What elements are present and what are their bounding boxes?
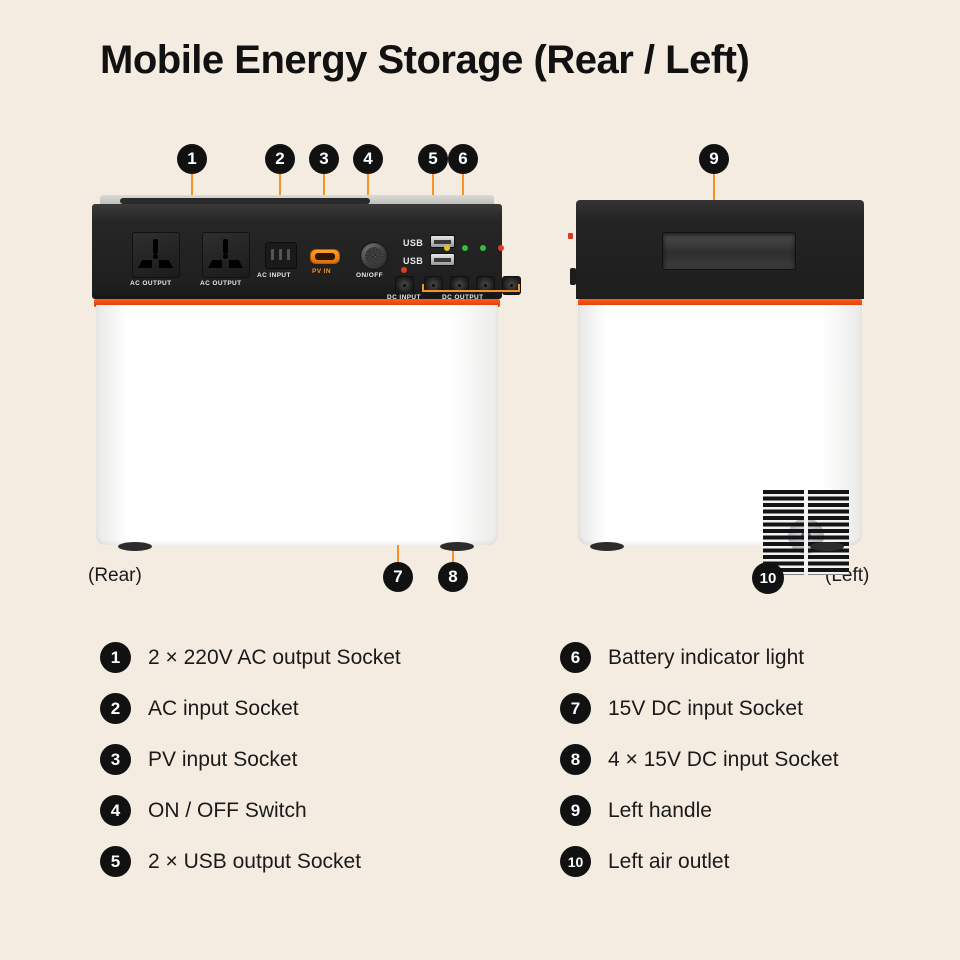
jack-center-pin (510, 284, 513, 287)
legend-badge-2: 2 (100, 693, 131, 724)
legend-badge-1: 1 (100, 642, 131, 673)
left-foot-left (590, 542, 624, 551)
callout-badge-8[interactable]: 8 (438, 562, 468, 592)
legend-item-9[interactable]: 9 Left handle (560, 793, 960, 844)
vent-center-divider (804, 490, 808, 575)
socket-pin-slot (153, 239, 158, 254)
ac-output-socket-right[interactable] (202, 232, 250, 278)
legend-label-3: PV input Socket (148, 744, 297, 775)
legend-label-5: 2 × USB output Socket (148, 846, 361, 877)
legend-label-7: 15V DC input Socket (608, 693, 803, 724)
legend-badge-10: 10 (560, 846, 591, 877)
battery-led-red (498, 245, 504, 251)
ac-input-pin-1 (271, 249, 274, 260)
battery-led-yellow (444, 245, 450, 251)
usb-top-label: USB (403, 238, 423, 248)
socket-ground-pin (223, 254, 228, 259)
legend-badge-6: 6 (560, 642, 591, 673)
legend-item-5[interactable]: 5 2 × USB output Socket (100, 844, 520, 895)
pv-in-label: PV IN (312, 268, 331, 275)
dc-output-socket-2[interactable] (450, 276, 469, 295)
left-edge-slot (570, 268, 576, 285)
rear-foot-left (118, 542, 152, 551)
diagram-stage: Mobile Energy Storage (Rear / Left) 1 2 … (0, 0, 960, 960)
left-handle[interactable] (662, 232, 796, 270)
ac-input-label: AC INPUT (257, 272, 291, 279)
on-off-label: ON/OFF (356, 272, 383, 279)
callout-badge-2[interactable]: 2 (265, 144, 295, 174)
callout-badge-5[interactable]: 5 (418, 144, 448, 174)
page-title: Mobile Energy Storage (Rear / Left) (100, 38, 749, 83)
callout-badge-9[interactable]: 9 (699, 144, 729, 174)
legend-column-left: 1 2 × 220V AC output Socket 2 AC input S… (100, 640, 520, 895)
legend-item-1[interactable]: 1 2 × 220V AC output Socket (100, 640, 520, 691)
battery-led-green-1 (462, 245, 468, 251)
legend-label-9: Left handle (608, 795, 712, 826)
legend-item-3[interactable]: 3 PV input Socket (100, 742, 520, 793)
usb-contact-block (434, 240, 451, 244)
usb-bottom-label: USB (403, 256, 423, 266)
legend-badge-9: 9 (560, 795, 591, 826)
legend-label-10: Left air outlet (608, 846, 729, 877)
socket-ground-pin (153, 254, 158, 259)
rear-body-shell (96, 305, 498, 545)
jack-center-pin (403, 284, 406, 287)
ac-output-socket-left[interactable] (132, 232, 180, 278)
usb-output-socket-bottom[interactable] (430, 253, 455, 266)
pv-connector-core (315, 253, 335, 260)
socket-wing-left (138, 260, 152, 268)
ac-output-left-label: AC OUTPUT (130, 280, 172, 287)
on-off-switch[interactable] (360, 242, 388, 270)
left-edge-led (568, 233, 573, 239)
switch-knurled-face (365, 247, 383, 265)
legend-item-6[interactable]: 6 Battery indicator light (560, 640, 960, 691)
legend-label-2: AC input Socket (148, 693, 299, 724)
ac-input-pin-3 (287, 249, 290, 260)
legend-item-2[interactable]: 2 AC input Socket (100, 691, 520, 742)
left-view-unit (568, 195, 864, 555)
rear-control-panel: AC OUTPUT AC OUTPUT AC INPUT PV IN (92, 204, 502, 299)
legend-badge-4: 4 (100, 795, 131, 826)
legend-item-8[interactable]: 8 4 × 15V DC input Socket (560, 742, 960, 793)
jack-center-pin (432, 284, 435, 287)
rear-view-label: (Rear) (88, 565, 142, 587)
left-top-panel (576, 200, 864, 299)
legend-badge-8: 8 (560, 744, 591, 775)
legend-item-4[interactable]: 4 ON / OFF Switch (100, 793, 520, 844)
callout-badge-6[interactable]: 6 (448, 144, 478, 174)
socket-wing-right (159, 260, 173, 268)
left-foot-right (810, 542, 844, 551)
ac-input-socket[interactable] (265, 242, 297, 269)
legend-item-10[interactable]: 10 Left air outlet (560, 844, 960, 895)
usb-contact-block (434, 258, 451, 262)
usb-output-socket-top[interactable] (430, 235, 455, 248)
dc-input-status-led (401, 267, 407, 273)
callout-badge-7[interactable]: 7 (383, 562, 413, 592)
dc-output-socket-3[interactable] (476, 276, 495, 295)
legend-item-7[interactable]: 7 15V DC input Socket (560, 691, 960, 742)
callout-badge-3[interactable]: 3 (309, 144, 339, 174)
dc-input-socket[interactable] (395, 276, 414, 295)
legend-label-1: 2 × 220V AC output Socket (148, 642, 401, 673)
rear-view-unit: AC OUTPUT AC OUTPUT AC INPUT PV IN (92, 195, 502, 555)
legend-label-8: 4 × 15V DC input Socket (608, 744, 839, 775)
legend-badge-7: 7 (560, 693, 591, 724)
jack-center-pin (458, 284, 461, 287)
ac-output-right-label: AC OUTPUT (200, 280, 242, 287)
ac-input-pin-2 (279, 249, 282, 260)
socket-wing-right (229, 260, 243, 268)
jack-center-pin (484, 284, 487, 287)
rear-foot-right (440, 542, 474, 551)
legend-column-right: 6 Battery indicator light 7 15V DC input… (560, 640, 960, 895)
socket-pin-slot (223, 239, 228, 254)
callout-badge-1[interactable]: 1 (177, 144, 207, 174)
legend-badge-5: 5 (100, 846, 131, 877)
legend-label-6: Battery indicator light (608, 642, 804, 673)
left-air-outlet (763, 490, 849, 575)
legend-badge-3: 3 (100, 744, 131, 775)
battery-led-green-2 (480, 245, 486, 251)
dc-output-bracket (422, 290, 520, 292)
pv-input-socket[interactable] (310, 249, 340, 264)
dc-output-socket-1[interactable] (424, 276, 443, 295)
left-body-shell (578, 305, 862, 545)
socket-wing-left (208, 260, 222, 268)
dc-output-bracket-left (422, 284, 424, 290)
callout-badge-4[interactable]: 4 (353, 144, 383, 174)
legend-label-4: ON / OFF Switch (148, 795, 307, 826)
dc-output-bracket-right (518, 284, 520, 290)
callout-badge-10[interactable]: 10 (752, 562, 784, 594)
